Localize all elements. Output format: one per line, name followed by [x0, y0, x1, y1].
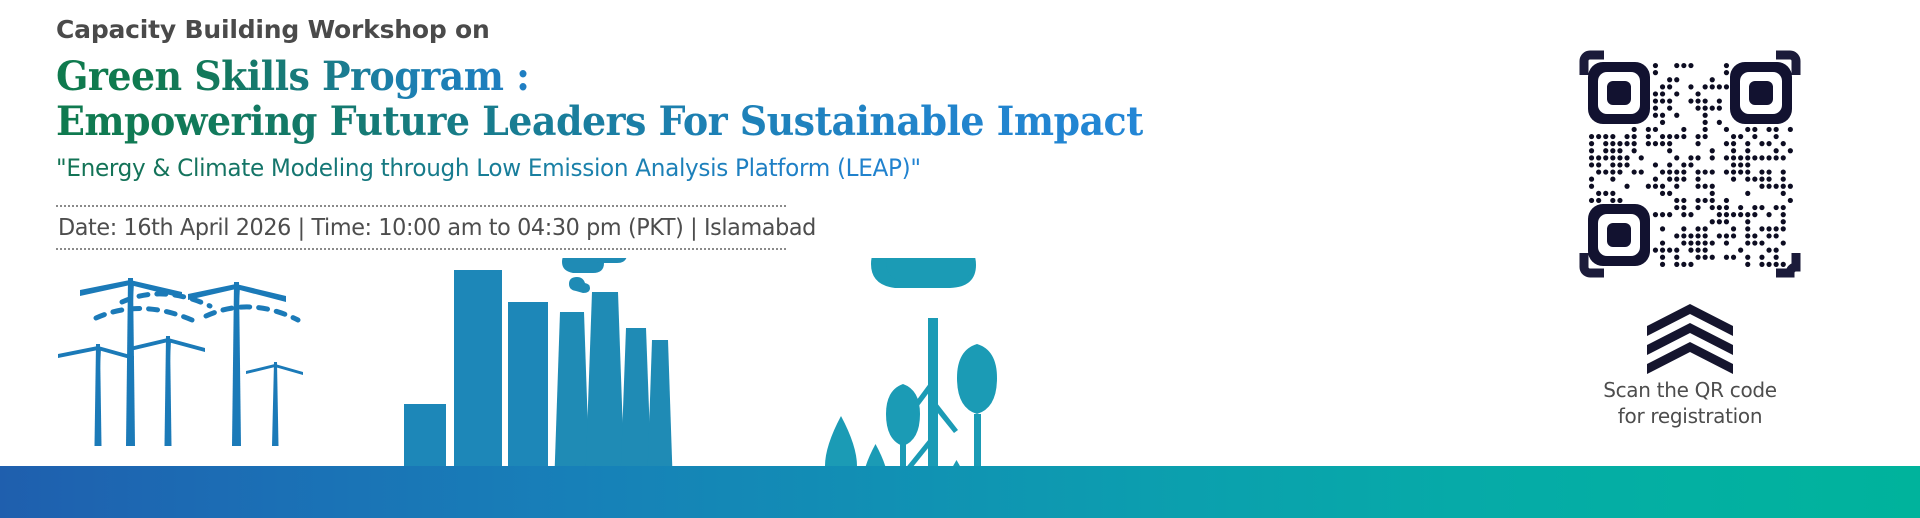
- wind-turbine-icon: [246, 362, 303, 446]
- event-details-line: Date: 16th April 2026 | Time: 10:00 am t…: [56, 207, 764, 249]
- qr-finder-pattern: [1730, 62, 1792, 124]
- headline-line-2-text: Empowering Future Leaders For Sustainabl…: [56, 98, 1143, 145]
- qr-caption-line-1: Scan the QR code: [1603, 378, 1777, 404]
- qr-caption-line-2: for registration: [1603, 404, 1777, 430]
- wind-turbine-icon: [188, 282, 286, 446]
- subtitle-text: "Energy & Climate Modeling through Low E…: [56, 154, 921, 182]
- headline-line-2: Empowering Future Leaders For Sustainabl…: [56, 99, 1177, 145]
- chevron-down-arrow-icon: [1645, 302, 1735, 374]
- event-details-block: Date: 16th April 2026 | Time: 10:00 am t…: [56, 205, 786, 251]
- wind-turbines-group: [58, 278, 303, 446]
- subtitle: "Energy & Climate Modeling through Low E…: [56, 154, 1195, 183]
- bottom-gradient-bar: [0, 466, 1920, 518]
- wind-turbine-icon: [58, 344, 134, 446]
- smoke-cloud-icon: [562, 258, 604, 293]
- qr-finder-pattern: [1588, 62, 1650, 124]
- qr-code[interactable]: [1554, 28, 1826, 300]
- wind-turbine-icon: [130, 336, 205, 446]
- event-banner: Capacity Building Workshop on Green Skil…: [0, 0, 1920, 518]
- banner-text-block: Capacity Building Workshop on Green Skil…: [56, 16, 1236, 250]
- qr-caption: Scan the QR code for registration: [1603, 378, 1777, 429]
- headline-line-1: Green Skills Program :: [56, 54, 1177, 100]
- dotted-rule-bottom: [56, 248, 786, 250]
- eyebrow-text: Capacity Building Workshop on: [56, 16, 1236, 45]
- qr-finder-pattern: [1588, 204, 1650, 266]
- headline-line-1-text: Green Skills Program :: [56, 53, 529, 100]
- qr-registration-panel: Scan the QR code for registration: [1540, 28, 1840, 429]
